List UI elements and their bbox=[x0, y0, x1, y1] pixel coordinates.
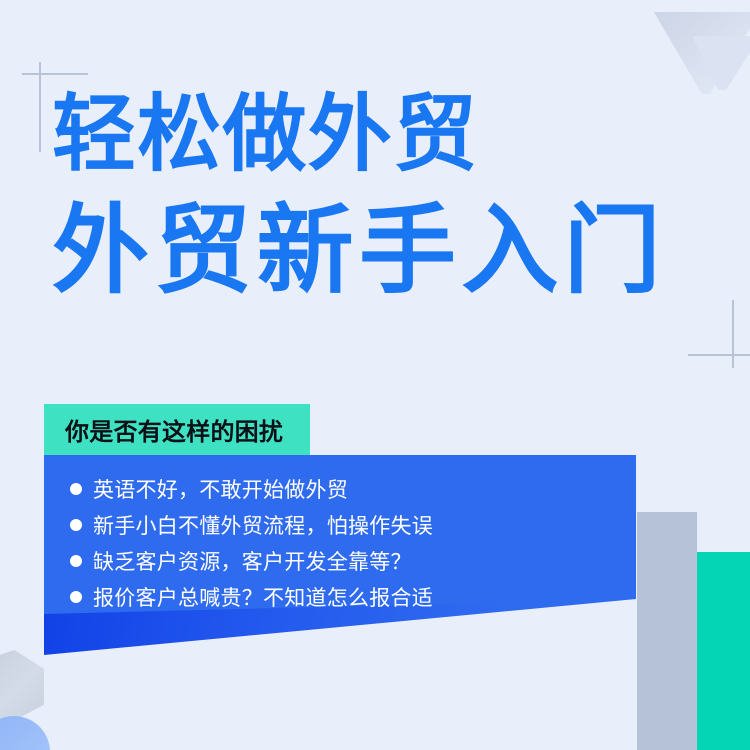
bullet-dot-icon bbox=[70, 519, 82, 531]
circle-decoration bbox=[0, 716, 50, 750]
list-item-label: 英语不好，不敢开始做外贸 bbox=[93, 474, 348, 504]
headline-line-1: 轻松做外贸 bbox=[52, 92, 732, 176]
crosshair-vertical-line bbox=[732, 300, 734, 368]
list-item: 新手小白不懂外贸流程，怕操作失误 bbox=[70, 507, 433, 542]
hexagon-decoration bbox=[0, 650, 44, 722]
list-item: 报价客户总喊贵？不知道怎么报合适 bbox=[70, 579, 433, 614]
chevron-decoration bbox=[614, 0, 750, 104]
list-item: 英语不好，不敢开始做外贸 bbox=[70, 471, 433, 506]
teal-bar-decoration bbox=[697, 552, 750, 750]
section-badge: 你是否有这样的困扰 bbox=[44, 404, 310, 455]
poster-canvas: 轻松做外贸 外贸新手入门 你是否有这样的困扰 英语不好，不敢开始做外贸 新手小白… bbox=[0, 0, 750, 750]
crosshair-vertical-line bbox=[39, 62, 41, 152]
list-item-label: 报价客户总喊贵？不知道怎么报合适 bbox=[93, 582, 433, 612]
list-item: 缺乏客户资源，客户开发全靠等？ bbox=[70, 543, 433, 578]
crosshair-horizontal-line bbox=[22, 73, 88, 75]
gray-bar-decoration bbox=[637, 512, 697, 750]
bullet-dot-icon bbox=[70, 555, 82, 567]
section-badge-label: 你是否有这样的困扰 bbox=[65, 412, 283, 447]
bullet-dot-icon bbox=[70, 591, 82, 603]
headline-line-2: 外贸新手入门 bbox=[52, 202, 732, 299]
pain-points-panel: 英语不好，不敢开始做外贸 新手小白不懂外贸流程，怕操作失误 缺乏客户资源，客户开… bbox=[44, 455, 636, 655]
chevron-icon bbox=[614, 0, 750, 104]
crosshair-horizontal-line bbox=[688, 354, 750, 356]
list-item-label: 缺乏客户资源，客户开发全靠等？ bbox=[93, 546, 412, 576]
pain-points-list: 英语不好，不敢开始做外贸 新手小白不懂外贸流程，怕操作失误 缺乏客户资源，客户开… bbox=[70, 471, 433, 615]
list-item-label: 新手小白不懂外贸流程，怕操作失误 bbox=[93, 510, 433, 540]
crosshair-bottom-right bbox=[688, 300, 750, 368]
bullet-dot-icon bbox=[70, 483, 82, 495]
headline-block: 轻松做外贸 外贸新手入门 bbox=[52, 92, 732, 299]
